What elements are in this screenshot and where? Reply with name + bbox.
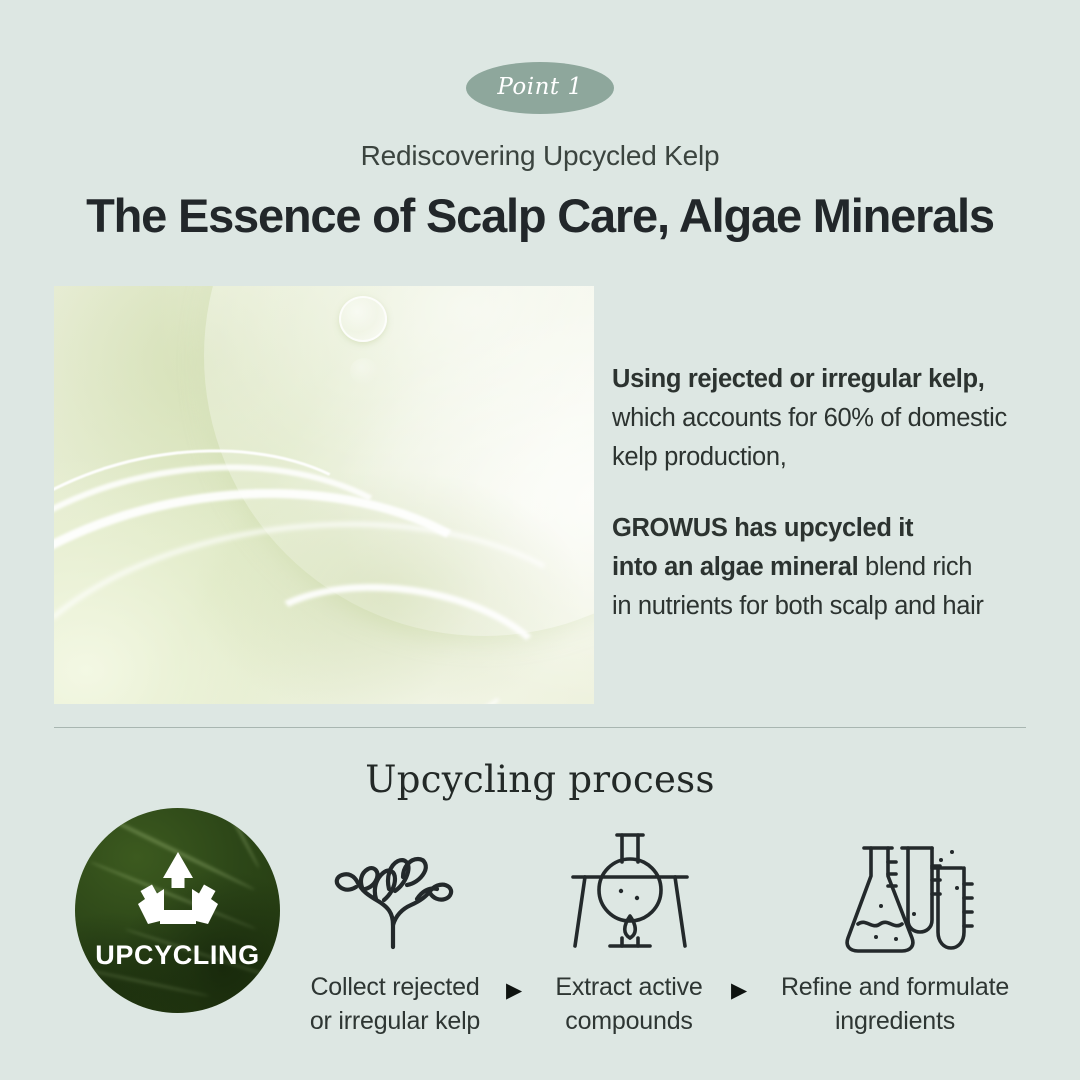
seaweed-icon bbox=[318, 833, 468, 956]
copy-paragraph-2: GROWUS has upcycled it into an algae min… bbox=[612, 509, 1044, 626]
upcycling-badge: UPCYCLING bbox=[75, 808, 280, 1013]
copy-line-4: GROWUS has upcycled it bbox=[612, 509, 1044, 548]
copy-line-5: into an algae mineral blend rich bbox=[612, 548, 1044, 587]
copy-line-1: Using rejected or irregular kelp, bbox=[612, 360, 1044, 399]
point-badge-label: Point 1 bbox=[497, 76, 582, 101]
body-copy: Using rejected or irregular kelp, which … bbox=[612, 360, 1044, 626]
arrow-separator-1: ▶ bbox=[506, 980, 522, 1001]
step-caption-3: Refine and formulate ingredients bbox=[752, 970, 1038, 1038]
gel-bubble-icon bbox=[339, 296, 387, 342]
copy-line-6: in nutrients for both scalp and hair bbox=[612, 587, 1044, 626]
page-title: The Essence of Scalp Care, Algae Mineral… bbox=[0, 188, 1080, 243]
copy-line-5-bold: into an algae mineral bbox=[612, 553, 858, 581]
subtitle: Rediscovering Upcycled Kelp bbox=[0, 140, 1080, 172]
step-caption-1: Collect rejected or irregular kelp bbox=[281, 970, 509, 1038]
step-caption-3-line2: ingredients bbox=[752, 1004, 1038, 1038]
copy-line-3: kelp production, bbox=[612, 438, 1044, 477]
arrow-separator-2: ▶ bbox=[731, 980, 747, 1001]
upcycling-label: UPCYCLING bbox=[75, 940, 280, 971]
process-title: Upcycling process bbox=[0, 758, 1080, 801]
copy-paragraph-1: Using rejected or irregular kelp, which … bbox=[612, 360, 1044, 477]
point-badge: Point 1 bbox=[466, 62, 614, 114]
step-caption-1-line2: or irregular kelp bbox=[281, 1004, 509, 1038]
recycle-icon bbox=[132, 848, 224, 939]
step-caption-2-line1: Extract active bbox=[525, 970, 733, 1004]
marketing-page: Point 1 Rediscovering Upcycled Kelp The … bbox=[0, 0, 1080, 1080]
step-caption-1-line1: Collect rejected bbox=[281, 970, 509, 1004]
section-divider bbox=[54, 727, 1026, 728]
flask-burner-icon bbox=[565, 828, 695, 961]
copy-line-2: which accounts for 60% of domestic bbox=[612, 399, 1044, 438]
copy-line-5-rest: blend rich bbox=[858, 553, 972, 581]
gel-bubble-small-icon bbox=[350, 358, 378, 384]
gel-texture-image bbox=[54, 286, 594, 704]
flask-test-tubes-icon bbox=[840, 836, 980, 959]
step-caption-2: Extract active compounds bbox=[525, 970, 733, 1038]
step-caption-3-line1: Refine and formulate bbox=[752, 970, 1038, 1004]
step-caption-2-line2: compounds bbox=[525, 1004, 733, 1038]
